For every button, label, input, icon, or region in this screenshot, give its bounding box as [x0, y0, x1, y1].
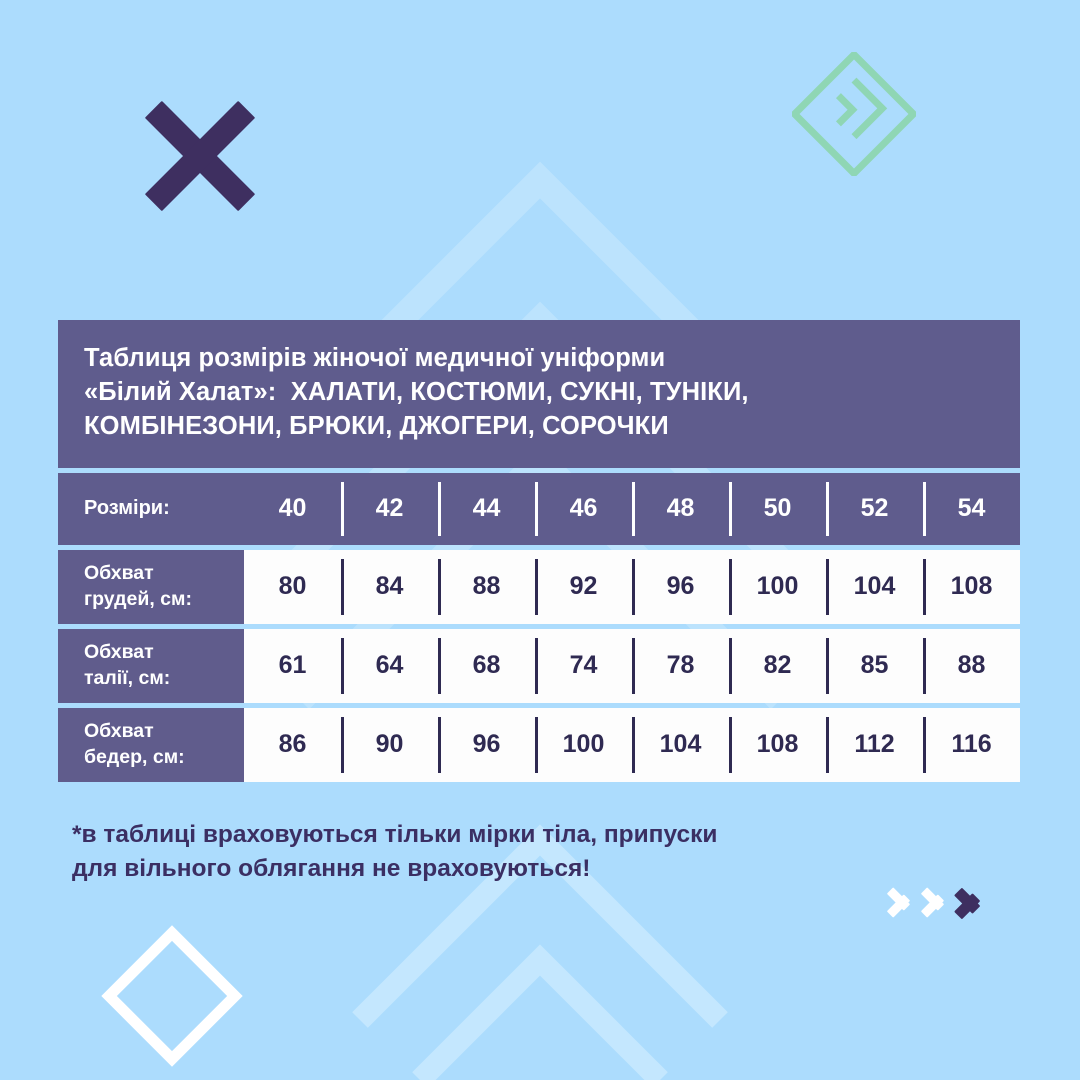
- chest-value-1: 84: [341, 550, 438, 624]
- size-header-3: 46: [535, 473, 632, 545]
- x-mark-icon: [140, 96, 260, 216]
- row-label-chest: Обхват грудей, см:: [58, 550, 244, 624]
- chevron-right-icon-2: [922, 882, 944, 922]
- hips-value-0: 86: [244, 708, 341, 782]
- row-cells-chest: 80 84 88 92 96 100 104 108: [244, 550, 1020, 624]
- chevron-right-icon-3: [956, 882, 978, 922]
- footnote-line-1: *в таблиці враховуються тільки мірки тіл…: [72, 818, 952, 852]
- row-label-line-1: Обхват: [84, 640, 244, 665]
- size-header-7: 54: [923, 473, 1020, 545]
- header-cells: 40 42 44 46 48 50 52 54: [244, 473, 1020, 545]
- title-line-1: Таблиця розмірів жіночої медичної уніфор…: [84, 342, 994, 376]
- chest-value-3: 92: [535, 550, 632, 624]
- title-line-2: «Білий Халат»: ХАЛАТИ, КОСТЮМИ, СУКНІ, Т…: [84, 376, 994, 410]
- size-header-1: 42: [341, 473, 438, 545]
- row-cells-waist: 61 64 68 74 78 82 85 88: [244, 629, 1020, 703]
- chest-value-5: 100: [729, 550, 826, 624]
- row-label-line-2: бедер, см:: [84, 745, 244, 770]
- waist-value-0: 61: [244, 629, 341, 703]
- hips-value-3: 100: [535, 708, 632, 782]
- footnote: *в таблиці враховуються тільки мірки тіл…: [72, 818, 952, 886]
- waist-value-1: 64: [341, 629, 438, 703]
- row-label-hips: Обхват бедер, см:: [58, 708, 244, 782]
- table-row-hips: Обхват бедер, см: 86 90 96 100 104 108 1…: [58, 708, 1020, 782]
- size-header-5: 50: [729, 473, 826, 545]
- waist-value-3: 74: [535, 629, 632, 703]
- hips-value-6: 112: [826, 708, 923, 782]
- row-label-line-1: Обхват: [84, 719, 244, 744]
- table-title-band: Таблиця розмірів жіночої медичної уніфор…: [58, 320, 1020, 468]
- chest-value-2: 88: [438, 550, 535, 624]
- size-header-4: 48: [632, 473, 729, 545]
- chest-value-4: 96: [632, 550, 729, 624]
- hips-value-2: 96: [438, 708, 535, 782]
- header-label: Розміри:: [58, 473, 244, 545]
- chevron-right-icon-1: [888, 882, 910, 922]
- waist-value-7: 88: [923, 629, 1020, 703]
- waist-value-5: 82: [729, 629, 826, 703]
- white-diamond-icon: [104, 928, 220, 1044]
- hips-value-7: 116: [923, 708, 1020, 782]
- table-row-chest: Обхват грудей, см: 80 84 88 92 96 100 10…: [58, 550, 1020, 624]
- hips-value-5: 108: [729, 708, 826, 782]
- chest-value-0: 80: [244, 550, 341, 624]
- size-header-2: 44: [438, 473, 535, 545]
- size-header-6: 52: [826, 473, 923, 545]
- row-label-waist: Обхват талії, см:: [58, 629, 244, 703]
- size-header-0: 40: [244, 473, 341, 545]
- chest-value-6: 104: [826, 550, 923, 624]
- green-diamond-chevron-icon: [792, 52, 916, 176]
- waist-value-4: 78: [632, 629, 729, 703]
- row-label-line-2: грудей, см:: [84, 587, 244, 612]
- title-line-3: КОМБІНЕЗОНИ, БРЮКИ, ДЖОГЕРИ, СОРОЧКИ: [84, 410, 994, 444]
- size-table: Таблиця розмірів жіночої медичної уніфор…: [58, 320, 1020, 782]
- chest-value-7: 108: [923, 550, 1020, 624]
- waist-value-6: 85: [826, 629, 923, 703]
- hips-value-4: 104: [632, 708, 729, 782]
- footnote-line-2: для вільного облягання не враховуються!: [72, 852, 952, 886]
- row-label-line-2: талії, см:: [84, 666, 244, 691]
- waist-value-2: 68: [438, 629, 535, 703]
- table-row-waist: Обхват талії, см: 61 64 68 74 78 82 85 8…: [58, 629, 1020, 703]
- table-header-row: Розміри: 40 42 44 46 48 50 52 54: [58, 473, 1020, 545]
- row-label-line-1: Обхват: [84, 561, 244, 586]
- row-cells-hips: 86 90 96 100 104 108 112 116: [244, 708, 1020, 782]
- hips-value-1: 90: [341, 708, 438, 782]
